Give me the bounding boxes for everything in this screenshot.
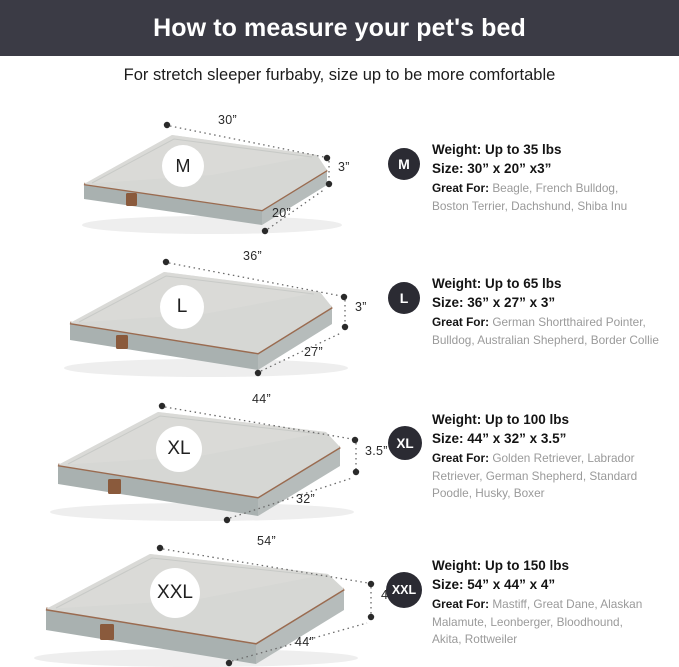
greatfor-line-0: Golden Retriever, Labrador	[492, 451, 634, 465]
dim-label-depth-xl: 32”	[296, 492, 315, 506]
spec-weight-label: Weight:	[432, 412, 481, 427]
gf-line-first: Great For: Mastiff, Great Dane, Alaskan	[432, 596, 642, 614]
header-bar: How to measure your pet's bed	[0, 0, 679, 56]
subtitle: For stretch sleeper furbaby, size up to …	[0, 66, 679, 85]
size-row-xl: XL 44” 3.5” 32” XL Weight: Up to 100 lbs	[0, 382, 679, 524]
spec-size-value: 36” x 27” x 3”	[467, 295, 555, 310]
greatfor-label: Great For:	[432, 597, 489, 611]
greatfor-label: Great For:	[432, 181, 489, 195]
greatfor-line-0: German Shortthaired Pointer,	[492, 315, 645, 329]
spec-size-label: Size:	[432, 431, 464, 446]
spec-weight-xl: Weight: Up to 100 lbs	[432, 410, 637, 429]
greatfor-label: Great For:	[432, 451, 489, 465]
dim-label-height-l: 3”	[355, 300, 367, 314]
pet-bed-size-guide: How to measure your pet's bed For stretc…	[0, 0, 679, 667]
dim-label-height-m: 3”	[338, 160, 350, 174]
greatfor-label: Great For:	[432, 315, 489, 329]
bed-illustration-xl: XL	[32, 394, 392, 528]
spec-weight-m: Weight: Up to 35 lbs	[432, 140, 627, 159]
bed-illustration-xxl: XXL	[18, 538, 394, 667]
greatfor-line-2: Akita, Rottweiler	[432, 631, 642, 649]
spec-weight-value: Up to 150 lbs	[485, 558, 569, 573]
size-badge-xl: XL	[388, 426, 422, 460]
spec-size-xxl: Size: 54” x 44” x 4”	[432, 575, 642, 594]
size-badge-l: L	[388, 282, 420, 314]
spec-size-m: Size: 30” x 20” x3”	[432, 159, 627, 178]
bed-svg-xl	[32, 394, 392, 528]
dim-label-width-xxl: 54”	[257, 534, 276, 548]
bed-size-letter-xl: XL	[156, 426, 202, 472]
bed-leather-tag	[116, 335, 128, 349]
gf-line-first: Great For: German Shortthaired Pointer,	[432, 314, 659, 332]
bed-size-letter-text: L	[177, 296, 188, 318]
spec-greatfor-l: Great For: German Shortthaired Pointer, …	[432, 314, 659, 349]
greatfor-line-1: Bulldog, Australian Shepherd, Border Col…	[432, 332, 659, 350]
spec-greatfor-xxl: Great For: Mastiff, Great Dane, Alaskan …	[432, 596, 642, 649]
spec-text-l: Weight: Up to 65 lbs Size: 36” x 27” x 3…	[432, 274, 659, 349]
size-badge-label: XXL	[392, 583, 416, 597]
spec-text-m: Weight: Up to 35 lbs Size: 30” x 20” x3”…	[432, 140, 627, 215]
greatfor-line-2: Poodle, Husky, Boxer	[432, 485, 637, 503]
bed-svg-m	[62, 113, 382, 243]
spec-size-value: 54” x 44” x 4”	[467, 577, 555, 592]
bed-svg-l	[46, 252, 386, 384]
gf-line-first: Great For: Golden Retriever, Labrador	[432, 450, 637, 468]
size-row-m: M 30” 3” 20” M Weight: Up to 35 lbs	[0, 105, 679, 235]
greatfor-line-0: Mastiff, Great Dane, Alaskan	[492, 597, 642, 611]
bed-leather-tag	[108, 479, 121, 494]
size-badge-m: M	[388, 148, 420, 180]
dim-label-depth-m: 20”	[272, 206, 291, 220]
gf-line-first: Great For: Beagle, French Bulldog,	[432, 180, 627, 198]
greatfor-line-1: Malamute, Leonberger, Bloodhound,	[432, 614, 642, 632]
spec-weight-label: Weight:	[432, 276, 481, 291]
spec-size-label: Size:	[432, 295, 464, 310]
size-badge-label: L	[400, 290, 409, 306]
spec-weight-l: Weight: Up to 65 lbs	[432, 274, 659, 293]
greatfor-line-1: Boston Terrier, Dachshund, Shiba Inu	[432, 198, 627, 216]
spec-weight-value: Up to 65 lbs	[485, 276, 562, 291]
spec-size-xl: Size: 44” x 32” x 3.5”	[432, 429, 637, 448]
bed-size-letter-l: L	[160, 285, 204, 329]
page-title: How to measure your pet's bed	[153, 14, 526, 43]
dim-label-depth-l: 27”	[304, 345, 323, 359]
spec-size-l: Size: 36” x 27” x 3”	[432, 293, 659, 312]
bed-size-letter-text: M	[176, 156, 191, 177]
bed-illustration-l: L	[46, 252, 386, 384]
spec-size-value: 44” x 32” x 3.5”	[467, 431, 566, 446]
size-badge-label: XL	[396, 436, 413, 451]
bed-illustration-m: M	[62, 113, 382, 243]
dim-label-width-xl: 44”	[252, 392, 271, 406]
spec-size-label: Size:	[432, 161, 464, 176]
spec-weight-value: Up to 100 lbs	[485, 412, 569, 427]
bed-leather-tag	[126, 193, 137, 206]
spec-greatfor-m: Great For: Beagle, French Bulldog, Bosto…	[432, 180, 627, 215]
size-badge-label: M	[398, 156, 410, 172]
spec-greatfor-xl: Great For: Golden Retriever, Labrador Re…	[432, 450, 637, 503]
size-badge-xxl: XXL	[386, 572, 422, 608]
bed-leather-tag	[100, 624, 114, 640]
dim-label-depth-xxl: 44”	[295, 635, 314, 649]
spec-weight-xxl: Weight: Up to 150 lbs	[432, 556, 642, 575]
greatfor-line-0: Beagle, French Bulldog,	[492, 181, 618, 195]
bed-svg-xxl	[18, 538, 394, 667]
spec-text-xxl: Weight: Up to 150 lbs Size: 54” x 44” x …	[432, 556, 642, 649]
dim-label-width-l: 36”	[243, 249, 262, 263]
spec-weight-label: Weight:	[432, 558, 481, 573]
size-row-xxl: XXL 54” 4” 44” XXL Weight: Up to 150 lbs	[0, 526, 679, 667]
dim-label-width-m: 30”	[218, 113, 237, 127]
bed-size-letter-text: XXL	[157, 582, 193, 604]
dim-label-height-xl: 3.5”	[365, 444, 388, 458]
bed-shadow	[82, 216, 342, 234]
greatfor-line-1: Retriever, German Shepherd, Standard	[432, 468, 637, 486]
spec-weight-label: Weight:	[432, 142, 481, 157]
bed-size-letter-text: XL	[167, 438, 190, 460]
bed-size-letter-xxl: XXL	[150, 568, 200, 618]
bed-size-letter-m: M	[162, 145, 204, 187]
size-row-l: L 36” 3” 27” L Weight: Up to 65 lbs	[0, 240, 679, 380]
spec-text-xl: Weight: Up to 100 lbs Size: 44” x 32” x …	[432, 410, 637, 503]
spec-weight-value: Up to 35 lbs	[485, 142, 562, 157]
spec-size-value: 30” x 20” x3”	[467, 161, 551, 176]
spec-size-label: Size:	[432, 577, 464, 592]
